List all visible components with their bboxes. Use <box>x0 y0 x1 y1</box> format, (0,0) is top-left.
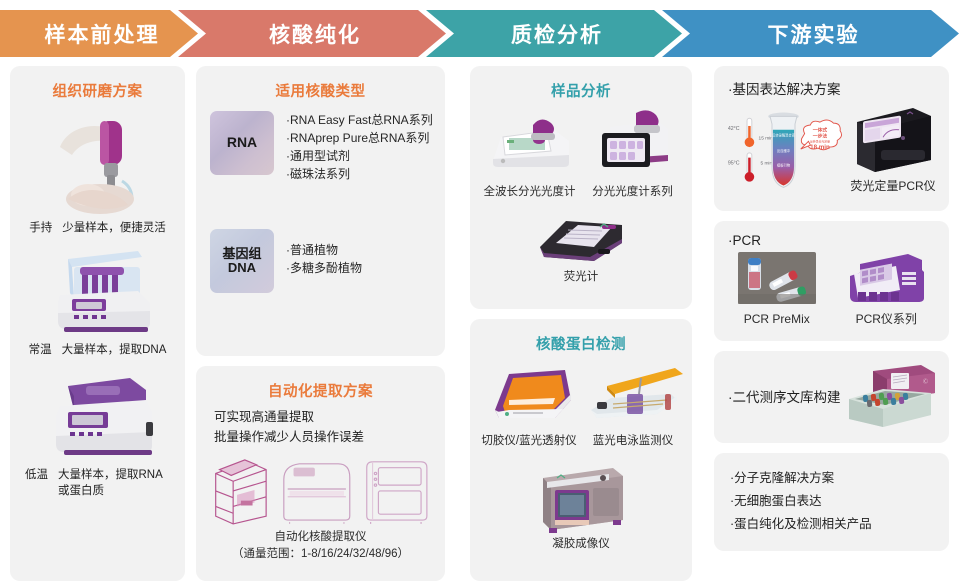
rna-item-3: ·磁珠法系列 <box>286 165 433 183</box>
workflow-step-1[interactable]: 样本前处理 <box>0 10 198 57</box>
product-blue-light-transilluminator-name: 切胶仪/蓝光透射仪 <box>481 433 576 450</box>
card-downstream-solutions: ·分子克隆解决方案 ·无细胞蛋白表达 ·蛋白纯化及检测相关产品 <box>714 453 949 551</box>
product-gel-imager[interactable]: 凝胶成像仪 <box>480 456 682 553</box>
automated-extraction-line-1: 可实现高通量提取 <box>214 407 435 427</box>
fluorometer-icon <box>526 207 636 269</box>
rt-qpcr-tube-icon: 42°C 95°C 15 min 5 min <box>724 103 843 195</box>
rna-product-list: ·RNA Easy Fast总RNA系列 ·RNAprep Pure总RNA系列… <box>286 111 433 183</box>
card-automated-extraction: 自动化提取方案 可实现高通量提取 批量操作减少人员操作误差 <box>196 366 445 581</box>
qpcr-instrument-icon[interactable] <box>847 102 939 176</box>
genomic-dna-tile-label-2: DNA <box>228 261 256 275</box>
product-blue-light-electrophoresis[interactable]: 蓝光电泳监测仪 <box>583 360 683 450</box>
rna-item-1: ·RNAprep Pure总RNA系列 <box>286 129 433 147</box>
svg-text:42°C: 42°C <box>728 125 740 131</box>
card-ngs-library-title: ·二代测序文库构建 <box>724 386 843 406</box>
genomic-dna-tile-label-1: 基因组 <box>222 247 261 261</box>
genomic-dna-tile-icon: 基因组 DNA <box>210 229 274 293</box>
column-qc-analysis: 样品分析 全 <box>470 66 692 581</box>
workflow-step-2[interactable]: 核酸纯化 <box>178 10 446 57</box>
card-nucleic-protein-detection-title: 核酸蛋白检测 <box>480 333 682 354</box>
product-blue-light-transilluminator[interactable]: 切胶仪/蓝光透射仪 <box>479 360 579 450</box>
product-pcr-premix[interactable]: PCR PreMix <box>724 250 830 328</box>
rna-item-0: ·RNA Easy Fast总RNA系列 <box>286 111 433 129</box>
svg-text:一体式: 一体式 <box>813 126 828 133</box>
downstream-solutions-list: ·分子克隆解决方案 ·无细胞蛋白表达 ·蛋白纯化及检测相关产品 <box>724 463 939 538</box>
rna-tile-icon: RNA <box>210 111 274 175</box>
method-room-temperature-desc: 大量样本，提取DNA <box>62 343 167 359</box>
rna-tile-label: RNA <box>227 135 257 150</box>
svg-text:模板引物: 模板引物 <box>777 162 791 167</box>
method-low-temperature[interactable]: 低温 大量样本，提取RNA或蛋白质 <box>20 362 175 499</box>
card-gene-expression-title: ·基因表达解决方案 <box>724 76 939 98</box>
method-room-temperature-mode: 常温 <box>29 343 52 359</box>
product-fluorometer-name: 荧光计 <box>564 269 599 286</box>
product-spectrophotometer-series[interactable]: 分光光度计系列 <box>583 107 682 201</box>
extractor-medium-icon <box>278 451 358 527</box>
svg-text:15 min: 15 min <box>759 135 774 141</box>
method-handheld-desc: 少量样本，便捷灵活 <box>62 221 166 237</box>
nucleic-type-rna[interactable]: RNA ·RNA Easy Fast总RNA系列 ·RNAprep Pure总R… <box>210 111 435 183</box>
workflow-step-3-label: 质检分析 <box>505 19 603 49</box>
card-nucleic-acid-types-title: 适用核酸类型 <box>206 80 435 101</box>
workflow-step-3[interactable]: 质检分析 <box>426 10 682 57</box>
dna-item-1: ·多糖多酚植物 <box>286 259 362 277</box>
extractor-large-icon <box>359 451 435 527</box>
column-downstream-experiments: ·基因表达解决方案 42°C 95°C <box>714 66 949 581</box>
product-gel-imager-name: 凝胶成像仪 <box>552 536 610 553</box>
method-low-temperature-mode: 低温 <box>25 468 48 499</box>
pcr-premix-icon <box>734 250 820 308</box>
workflow-step-2-label: 核酸纯化 <box>263 19 361 49</box>
automated-extraction-line-2: 批量操作减少人员操作误差 <box>214 427 435 447</box>
downstream-item-0: ·分子克隆解决方案 <box>730 467 935 490</box>
workflow-step-4[interactable]: 下游实验 <box>662 10 959 57</box>
card-nucleic-protein-detection: 核酸蛋白检测 切胶仪/蓝光透射仪 <box>470 319 692 581</box>
card-nucleic-acid-types: 适用核酸类型 RNA ·RNA Easy Fast总RNA系列 ·RNAprep… <box>196 66 445 356</box>
product-spectrophotometer-series-name: 分光光度计系列 <box>592 184 673 201</box>
method-handheld[interactable]: 手持 少量样本，便捷灵活 <box>20 107 175 237</box>
workflow-infographic: 样本前处理 核酸纯化 质检分析 下游实验 组织研磨方案 <box>0 0 959 586</box>
svg-text:反应缓冲: 反应缓冲 <box>777 148 791 153</box>
product-pcr-instrument[interactable]: PCR仪系列 <box>834 250 940 328</box>
card-automated-extraction-title: 自动化提取方案 <box>206 380 435 401</box>
blue-light-transilluminator-icon <box>479 360 579 430</box>
product-spectrophotometer-name: 全波长分光光度计 <box>484 184 576 201</box>
handheld-homogenizer-icon <box>20 107 175 215</box>
svg-text:反转录酶混合液: 反转录酶混合液 <box>772 132 795 137</box>
method-low-temperature-desc: 大量样本，提取RNA或蛋白质 <box>58 468 170 499</box>
dna-item-0: ·普通植物 <box>286 241 362 259</box>
workflow-step-4-label: 下游实验 <box>762 19 860 49</box>
spectrophotometer-series-icon <box>584 107 682 181</box>
method-handheld-mode: 手持 <box>29 221 52 237</box>
card-ngs-library: ·二代测序文库构建 Ⓒ <box>714 351 949 443</box>
gel-imager-icon <box>529 456 633 536</box>
extractor-small-icon <box>206 451 276 527</box>
product-pcr-premix-name: PCR PreMix <box>744 311 810 328</box>
product-pcr-instrument-name: PCR仪系列 <box>856 311 917 328</box>
card-tissue-grinding: 组织研磨方案 <box>10 66 185 581</box>
product-qpcr-name: 荧光定量PCR仪 <box>850 178 935 195</box>
rna-item-2: ·通用型试剂 <box>286 147 433 165</box>
method-room-temperature[interactable]: 常温 大量样本，提取DNA <box>20 241 175 359</box>
column-sample-pretreatment: 组织研磨方案 <box>10 66 185 581</box>
svg-text:5 min: 5 min <box>760 160 772 166</box>
column-nucleic-acid-purification: 适用核酸类型 RNA ·RNA Easy Fast总RNA系列 ·RNAprep… <box>196 66 445 581</box>
workflow-header: 样本前处理 核酸纯化 质检分析 下游实验 <box>0 10 959 57</box>
svg-text:18 min: 18 min <box>810 144 830 151</box>
card-pcr-title: ·PCR <box>724 231 939 248</box>
product-spectrophotometer[interactable]: 全波长分光光度计 <box>480 107 579 201</box>
svg-text:Ⓒ: Ⓒ <box>923 378 928 385</box>
automated-extractor-caption-1: 自动化核酸提取仪 <box>206 529 435 546</box>
spectrophotometer-icon <box>481 107 579 181</box>
ngs-library-kit-icon: Ⓒ <box>843 359 939 433</box>
card-tissue-grinding-title: 组织研磨方案 <box>20 80 175 101</box>
svg-text:95°C: 95°C <box>728 160 740 166</box>
downstream-item-1: ·无细胞蛋白表达 <box>730 490 935 513</box>
card-pcr: ·PCR <box>714 221 949 341</box>
automated-extractor-icons <box>206 451 435 527</box>
roomtemp-grinder-icon <box>20 241 175 337</box>
pcr-instrument-icon <box>838 250 934 308</box>
workflow-step-1-label: 样本前处理 <box>39 19 160 49</box>
product-blue-light-electrophoresis-name: 蓝光电泳监测仪 <box>593 433 674 450</box>
blue-light-electrophoresis-icon <box>583 360 683 430</box>
card-sample-analysis: 样品分析 全 <box>470 66 692 309</box>
svg-text:反转录荧光定量: 反转录荧光定量 <box>810 138 830 143</box>
card-sample-analysis-title: 样品分析 <box>480 80 682 101</box>
nucleic-type-genomic-dna[interactable]: 基因组 DNA ·普通植物 ·多糖多酚植物 <box>210 229 435 293</box>
lowtemp-grinder-icon <box>20 362 175 462</box>
downstream-item-2: ·蛋白纯化及检测相关产品 <box>730 513 935 536</box>
genomic-dna-product-list: ·普通植物 ·多糖多酚植物 <box>286 229 362 277</box>
product-fluorometer[interactable]: 荧光计 <box>480 207 682 286</box>
card-gene-expression: ·基因表达解决方案 42°C 95°C <box>714 66 949 211</box>
automated-extractor-caption-2: （通量范围：1-8/16/24/32/48/96） <box>206 546 435 563</box>
